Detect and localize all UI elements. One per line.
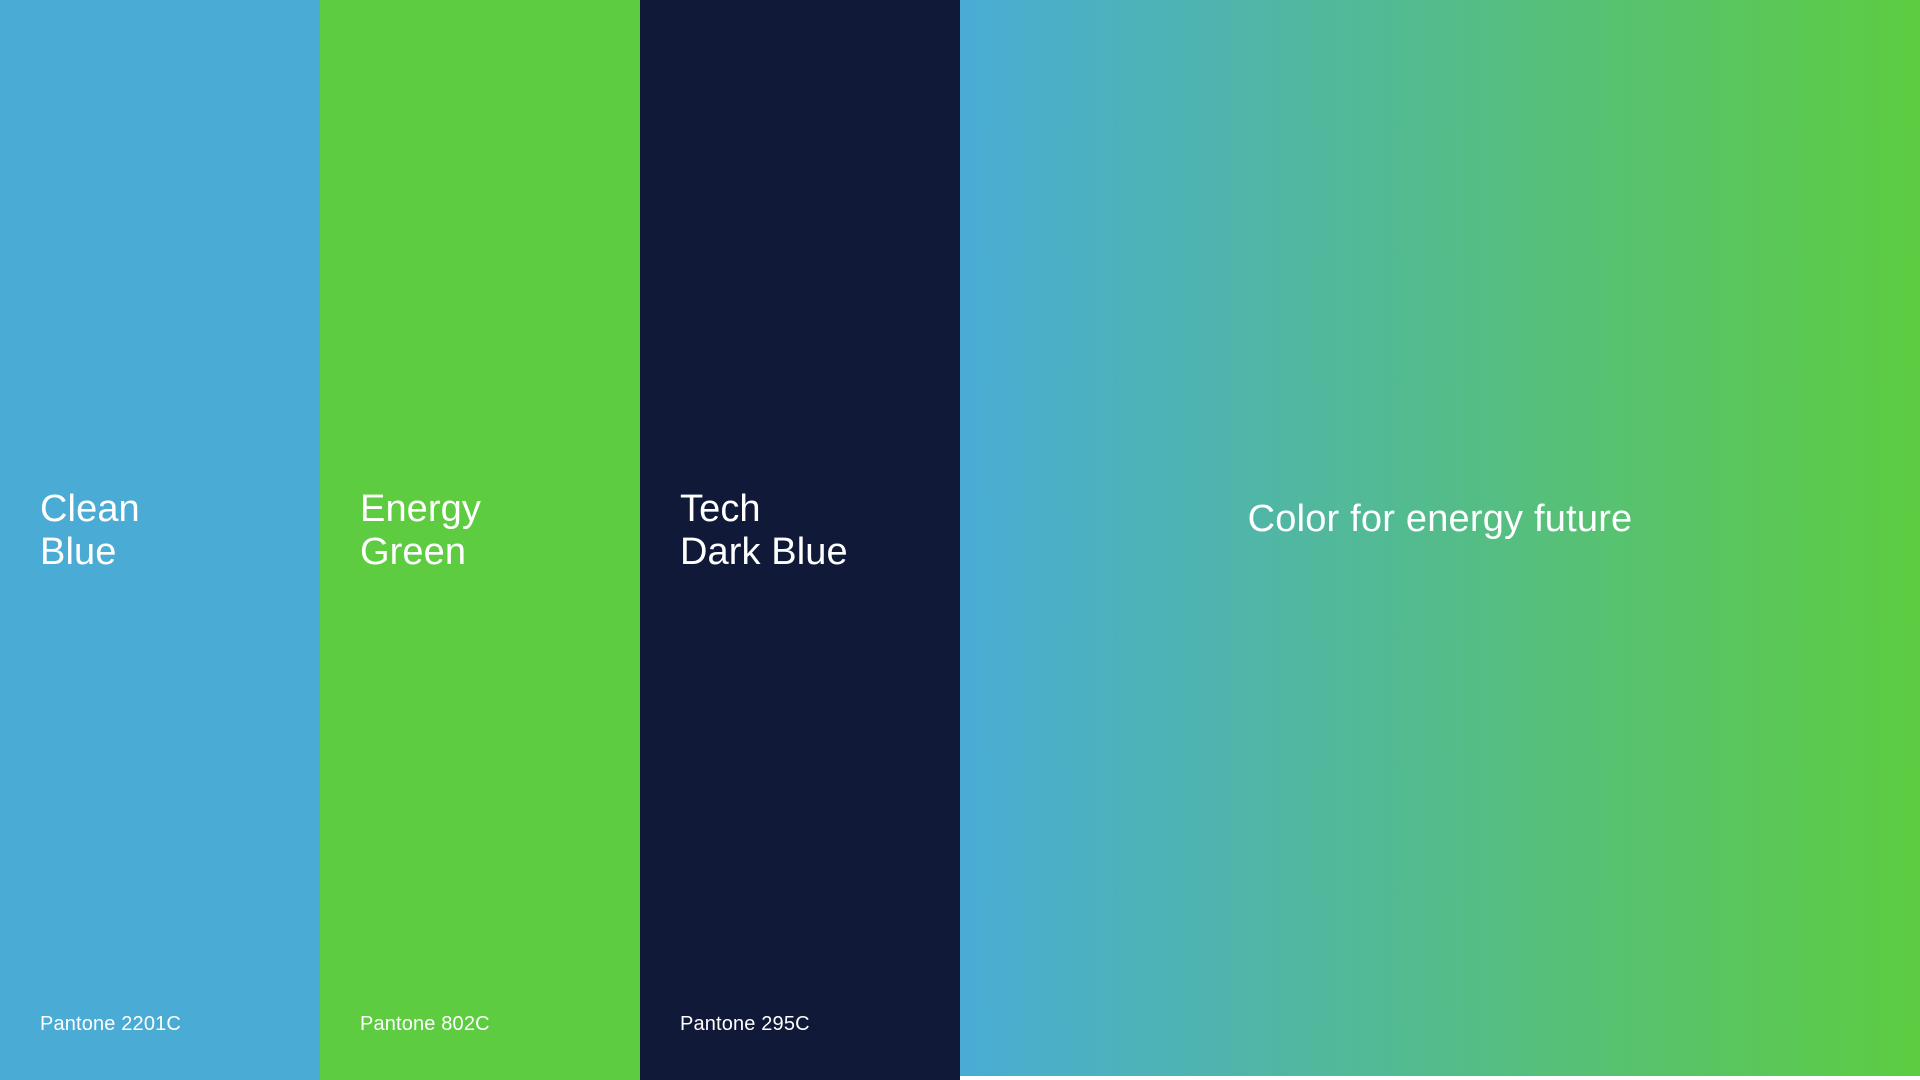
panel-bottom-edge xyxy=(960,1076,1920,1080)
swatch-code-energy-green: Pantone 802C xyxy=(360,1012,490,1036)
swatch-name-clean-blue: Clean Blue xyxy=(40,488,140,573)
swatch-name-energy-green: Energy Green xyxy=(360,488,481,573)
swatch-tech-dark-blue[interactable]: Tech Dark Blue Pantone 295C xyxy=(640,0,960,1080)
swatch-name-tech-dark-blue: Tech Dark Blue xyxy=(680,488,848,573)
feature-headline: Color for energy future xyxy=(1248,498,1633,583)
swatch-code-clean-blue: Pantone 2201C xyxy=(40,1012,181,1036)
swatch-clean-blue[interactable]: Clean Blue Pantone 2201C xyxy=(0,0,320,1080)
swatch-code-tech-dark-blue: Pantone 295C xyxy=(680,1012,810,1036)
color-palette-board: Clean Blue Pantone 2201C Energy Green Pa… xyxy=(0,0,1920,1080)
gradient-feature-panel: Color for energy future xyxy=(960,0,1920,1080)
swatch-energy-green[interactable]: Energy Green Pantone 802C xyxy=(320,0,640,1080)
